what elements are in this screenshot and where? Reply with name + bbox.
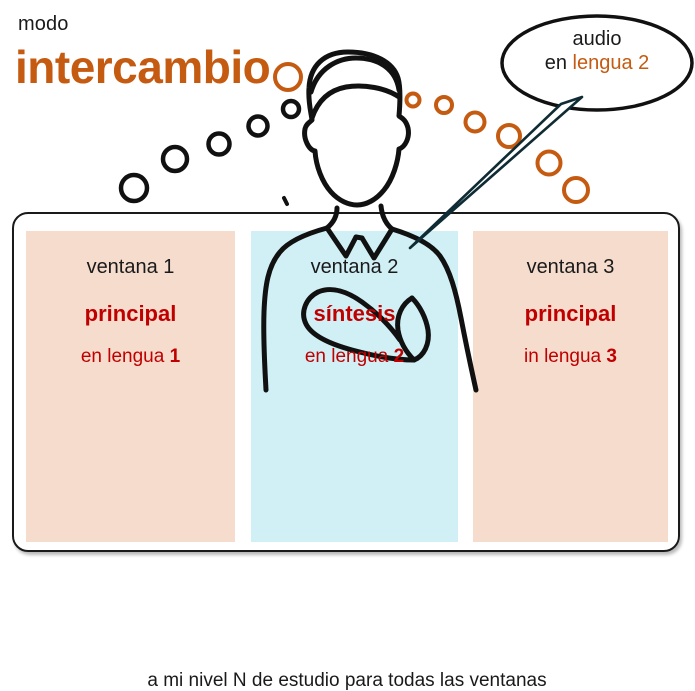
column-title: ventana 2	[251, 257, 458, 277]
columns-group: ventana 1 principal en lengua 1 ventana …	[26, 231, 668, 542]
kicker-label: modo	[18, 14, 68, 34]
column-title: ventana 1	[26, 257, 235, 277]
column-language-number: 2	[394, 346, 405, 367]
speech-bubble-line-1: audio	[509, 27, 685, 51]
speech-bubble-line-2: en lengua 2	[509, 51, 685, 75]
page-title: intercambio	[15, 44, 270, 90]
column-role: principal	[26, 303, 235, 325]
column-language: en lengua 2	[251, 347, 458, 366]
window-column-1[interactable]: ventana 1 principal en lengua 1	[26, 231, 235, 542]
column-role: síntesis	[251, 303, 458, 325]
speech-bubble-line-2-accent: lengua 2	[573, 52, 650, 74]
column-language-prefix: en lengua	[305, 346, 394, 367]
column-language: en lengua 1	[26, 347, 235, 366]
column-title: ventana 3	[473, 257, 668, 277]
circle-chain-accent-icon	[275, 64, 588, 202]
column-language-number: 3	[606, 346, 617, 367]
window-column-2[interactable]: ventana 2 síntesis en lengua 2	[251, 231, 458, 542]
column-role: principal	[473, 303, 668, 325]
speech-bubble-line-2-prefix: en	[545, 52, 573, 74]
panel-footnote: a mi nivel N de estudio para todas las v…	[26, 671, 668, 690]
speech-bubble-text: audio en lengua 2	[509, 27, 685, 76]
column-language-prefix: en lengua	[81, 346, 170, 367]
column-language-number: 1	[170, 346, 181, 367]
column-language: in lengua 3	[473, 347, 668, 366]
window-column-3[interactable]: ventana 3 principal in lengua 3	[473, 231, 668, 542]
circle-chain-dark-icon	[121, 101, 299, 201]
column-language-prefix: in lengua	[524, 346, 606, 367]
